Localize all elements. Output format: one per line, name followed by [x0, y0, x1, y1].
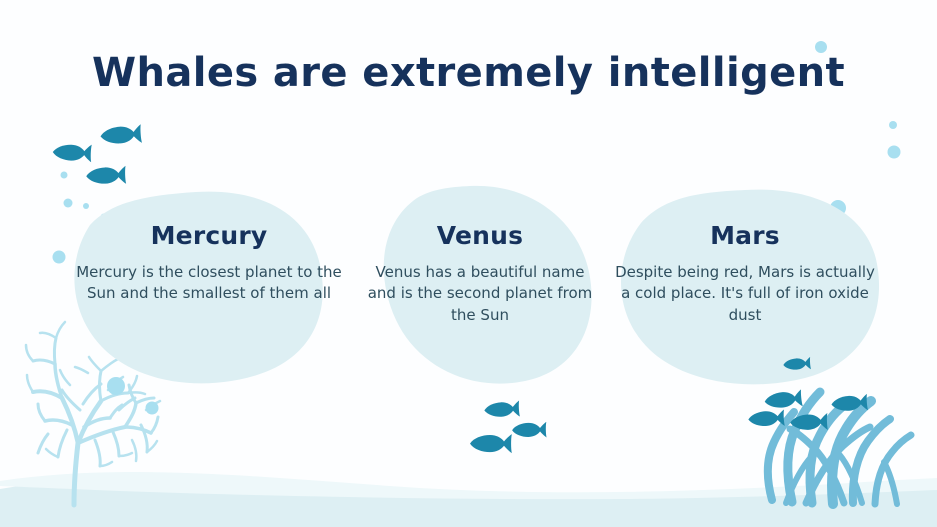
- card-title-mercury: Mercury: [75, 222, 343, 250]
- info-card-mars: Mars Despite being red, Mars is actually…: [614, 222, 876, 327]
- info-card-mercury: Mercury Mercury is the closest planet to…: [75, 222, 343, 305]
- page-title: Whales are extremely intelligent: [0, 50, 937, 96]
- info-card-venus: Venus Venus has a beautiful name and is …: [360, 222, 600, 327]
- presentation-slide: Whales are extremely intelligent Mercury…: [0, 0, 937, 527]
- card-body-venus: Venus has a beautiful name and is the se…: [360, 262, 600, 327]
- card-body-mars: Despite being red, Mars is actually a co…: [614, 262, 876, 327]
- slide-text-layer: Whales are extremely intelligent Mercury…: [0, 0, 937, 527]
- card-title-venus: Venus: [360, 222, 600, 250]
- card-body-mercury: Mercury is the closest planet to the Sun…: [75, 262, 343, 306]
- card-title-mars: Mars: [614, 222, 876, 250]
